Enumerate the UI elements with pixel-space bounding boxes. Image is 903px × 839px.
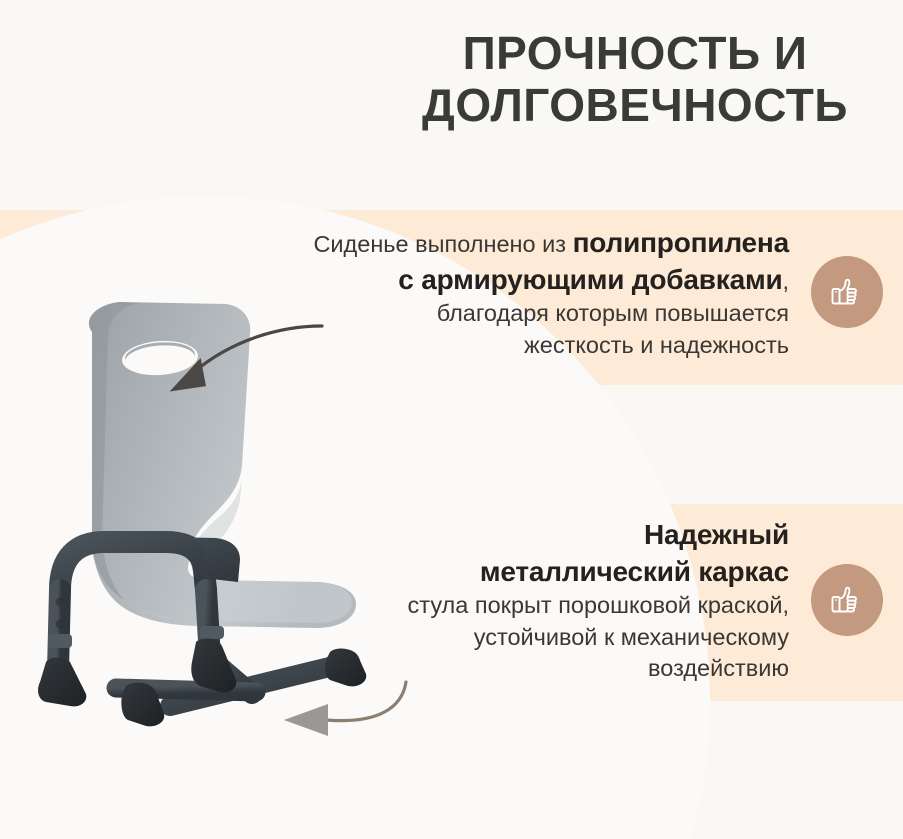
feature-1-line-2-bold: с армирующими добавками (398, 264, 782, 295)
infographic-root: ПРОЧНОСТЬ И ДОЛГОВЕЧНОСТЬ (0, 0, 903, 839)
thumbs-up-icon (827, 272, 867, 312)
feature-2-line-4: устойчивой к механическому (300, 622, 789, 653)
feature-2-line-2: металлический каркас (300, 553, 789, 590)
feature-1-line-4: жесткость и надежность (148, 330, 789, 361)
feature-seat-material-text: Сиденье выполнено из полипропилена с арм… (148, 224, 789, 361)
feature-1-line-1: Сиденье выполнено из полипропилена (148, 224, 789, 261)
feature-2-line-5: воздействию (300, 653, 789, 684)
page-title-line-1: ПРОЧНОСТЬ И (380, 28, 890, 80)
feature-1-line-2-tail: , (782, 268, 789, 294)
thumbs-up-badge-2 (811, 564, 883, 636)
thumbs-up-icon (827, 580, 867, 620)
feature-1-line-3: благодаря которым повышается (148, 298, 789, 329)
feature-2-line-1: Надежный (300, 516, 789, 553)
feature-metal-frame: Надежный металлический каркас стула покр… (300, 516, 883, 684)
feature-1-line-2: с армирующими добавками, (148, 261, 789, 298)
feature-metal-frame-text: Надежный металлический каркас стула покр… (300, 516, 789, 684)
feature-1-line-1-bold: полипропилена (573, 227, 789, 258)
feature-1-line-1-normal: Сиденье выполнено из (313, 231, 572, 257)
page-title: ПРОЧНОСТЬ И ДОЛГОВЕЧНОСТЬ (380, 28, 890, 131)
thumbs-up-badge-1 (811, 256, 883, 328)
feature-2-line-3: стула покрыт порошковой краской, (300, 590, 789, 621)
feature-seat-material: Сиденье выполнено из полипропилена с арм… (148, 224, 883, 361)
page-title-line-2: ДОЛГОВЕЧНОСТЬ (380, 80, 890, 132)
